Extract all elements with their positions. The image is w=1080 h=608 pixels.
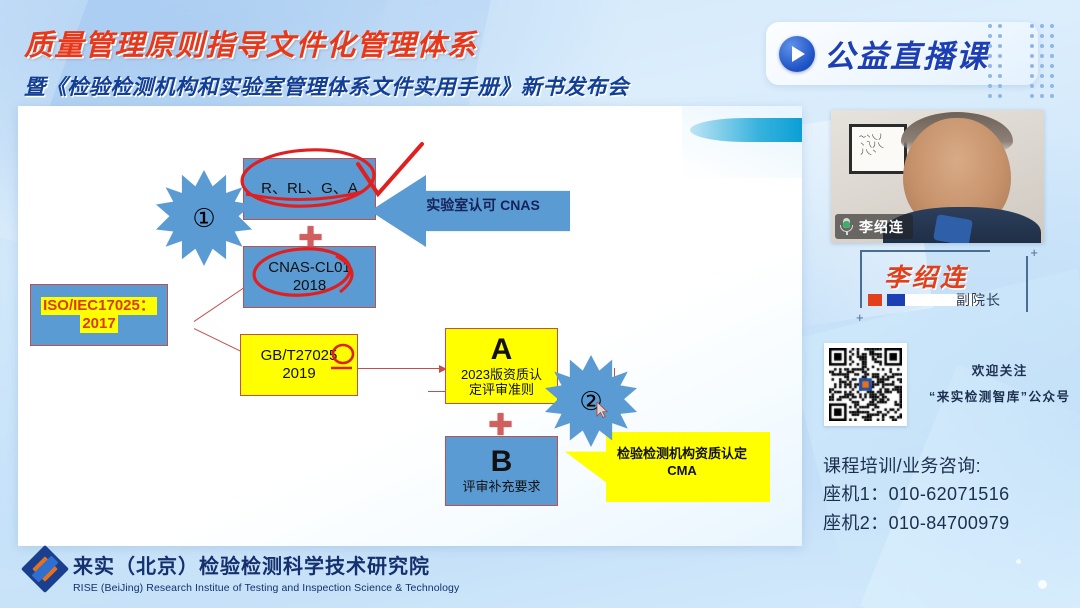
contact-phone-1: 座机1：010-62071516 (823, 480, 1010, 508)
page-title: 质量管理原则指导文件化管理体系 (24, 22, 629, 64)
corner-plus-bottom: + (856, 311, 864, 324)
box-iso-17025[interactable]: ISO/IEC17025： 2017 (30, 284, 168, 346)
wechat-promo: 欢迎关注 “来实检测智库”公众号 (824, 343, 1071, 426)
video-nameplate: 李绍连 (835, 214, 913, 239)
arrow-cnas-label: 实验室认可 CNAS (398, 195, 568, 215)
box-gbt-27025[interactable]: GB/T27025 2019 (240, 334, 358, 396)
page-subtitle: 暨《检验检测机构和实验室管理体系文件实用手册》新书发布会 (24, 71, 629, 101)
mouse-cursor (596, 402, 608, 418)
cyan-accent-shape (690, 118, 802, 142)
wechat-promo-text: 欢迎关注 “来实检测智库”公众号 (929, 359, 1071, 410)
microphone-icon (839, 218, 854, 235)
broadcast-screen: 质量管理原则指导文件化管理体系 暨《检验检测机构和实验室管理体系文件实用手册》新… (0, 0, 1080, 608)
dot-pattern-right (1030, 24, 1054, 98)
connector-gbt-to-a (354, 368, 446, 369)
speaker-card-name: 李绍连 (884, 258, 968, 294)
box-a-line2: 定评审准则 (469, 382, 534, 397)
box-cnas-line2: 2018 (293, 277, 326, 295)
box-b-line1: 评审补充要求 (462, 479, 540, 494)
contact-heading: 课程培训/业务咨询: (823, 452, 1010, 480)
bokeh-dot-2 (1016, 559, 1021, 564)
box-a-line1: 2023版资质认 (461, 367, 542, 382)
frame-calligraphy: 〜丶乀丿丶乁丿乀丿乀丶 (859, 134, 897, 164)
box-criteria-b[interactable]: B 评审补充要求 (445, 436, 558, 506)
contact-block: 课程培训/业务咨询: 座机1：010-62071516 座机2：010-8470… (823, 452, 1010, 537)
box-b-letter: B (491, 447, 513, 477)
box-a-letter: A (491, 335, 513, 365)
header-titles: 质量管理原则指导文件化管理体系 暨《检验检测机构和实验室管理体系文件实用手册》新… (24, 22, 629, 101)
corner-plus-top: + (1030, 246, 1038, 259)
live-course-label: 公益直播课 (824, 31, 989, 76)
video-speaker-name: 李绍连 (859, 217, 904, 237)
wechat-promo-line1: 欢迎关注 (929, 359, 1071, 385)
starburst-one-number: ① (192, 205, 215, 231)
footer-branding: 来实（北京）检验检测科学技术研究院 RISE (BeiJing) Researc… (28, 550, 459, 594)
bg-shape-3 (786, 268, 1080, 608)
arrow-cma-line2: CMA (598, 463, 766, 480)
arrow-cma-line1: 检验检测机构资质认定 (598, 446, 766, 463)
box-rlga[interactable]: R、RL、G、A (243, 158, 376, 220)
qr-code-icon[interactable] (824, 343, 907, 426)
slide-corner-gradient (682, 106, 802, 178)
presentation-slide[interactable]: R、RL、G、A ✚ CNAS-CL01 2018 ISO/IEC17025： … (18, 106, 802, 546)
box-cnas-cl01[interactable]: CNAS-CL01 2018 (243, 246, 376, 308)
play-icon[interactable] (779, 36, 815, 72)
footer-org-en: RISE (BeiJing) Research Institue of Test… (73, 582, 459, 594)
box-rlga-label: R、RL、G、A (261, 180, 358, 198)
box-gbt-line2: 2019 (282, 365, 315, 383)
bokeh-dot-1 (1038, 580, 1047, 589)
wechat-promo-line2: “来实检测智库”公众号 (929, 385, 1071, 411)
speaker-card-role: 副院长 (956, 290, 1001, 310)
dot-pattern-left (988, 24, 1002, 98)
speaker-name-card: + + 李绍连 副院长 (860, 250, 1046, 318)
box-criteria-a[interactable]: A 2023版资质认 定评审准则 (445, 328, 558, 404)
starburst-one: ① (156, 170, 252, 266)
speaker-video[interactable]: 〜丶乀丿丶乁丿乀丿乀丶 李绍连 (831, 110, 1044, 243)
contact-phone-2: 座机2：010-84700979 (823, 509, 1010, 537)
wall-picture-frame: 〜丶乀丿丶乁丿乀丿乀丶 (849, 124, 907, 174)
box-iso-line1: ISO/IEC17025： (41, 297, 157, 315)
speaker-collar (933, 214, 973, 243)
rise-logo-icon (21, 545, 69, 593)
box-cnas-line1: CNAS-CL01 (268, 259, 351, 277)
footer-org-cn: 来实（北京）检验检测科学技术研究院 (73, 550, 459, 579)
box-gbt-line1: GB/T27025 (261, 347, 338, 365)
box-iso-line2: 2017 (80, 315, 117, 333)
